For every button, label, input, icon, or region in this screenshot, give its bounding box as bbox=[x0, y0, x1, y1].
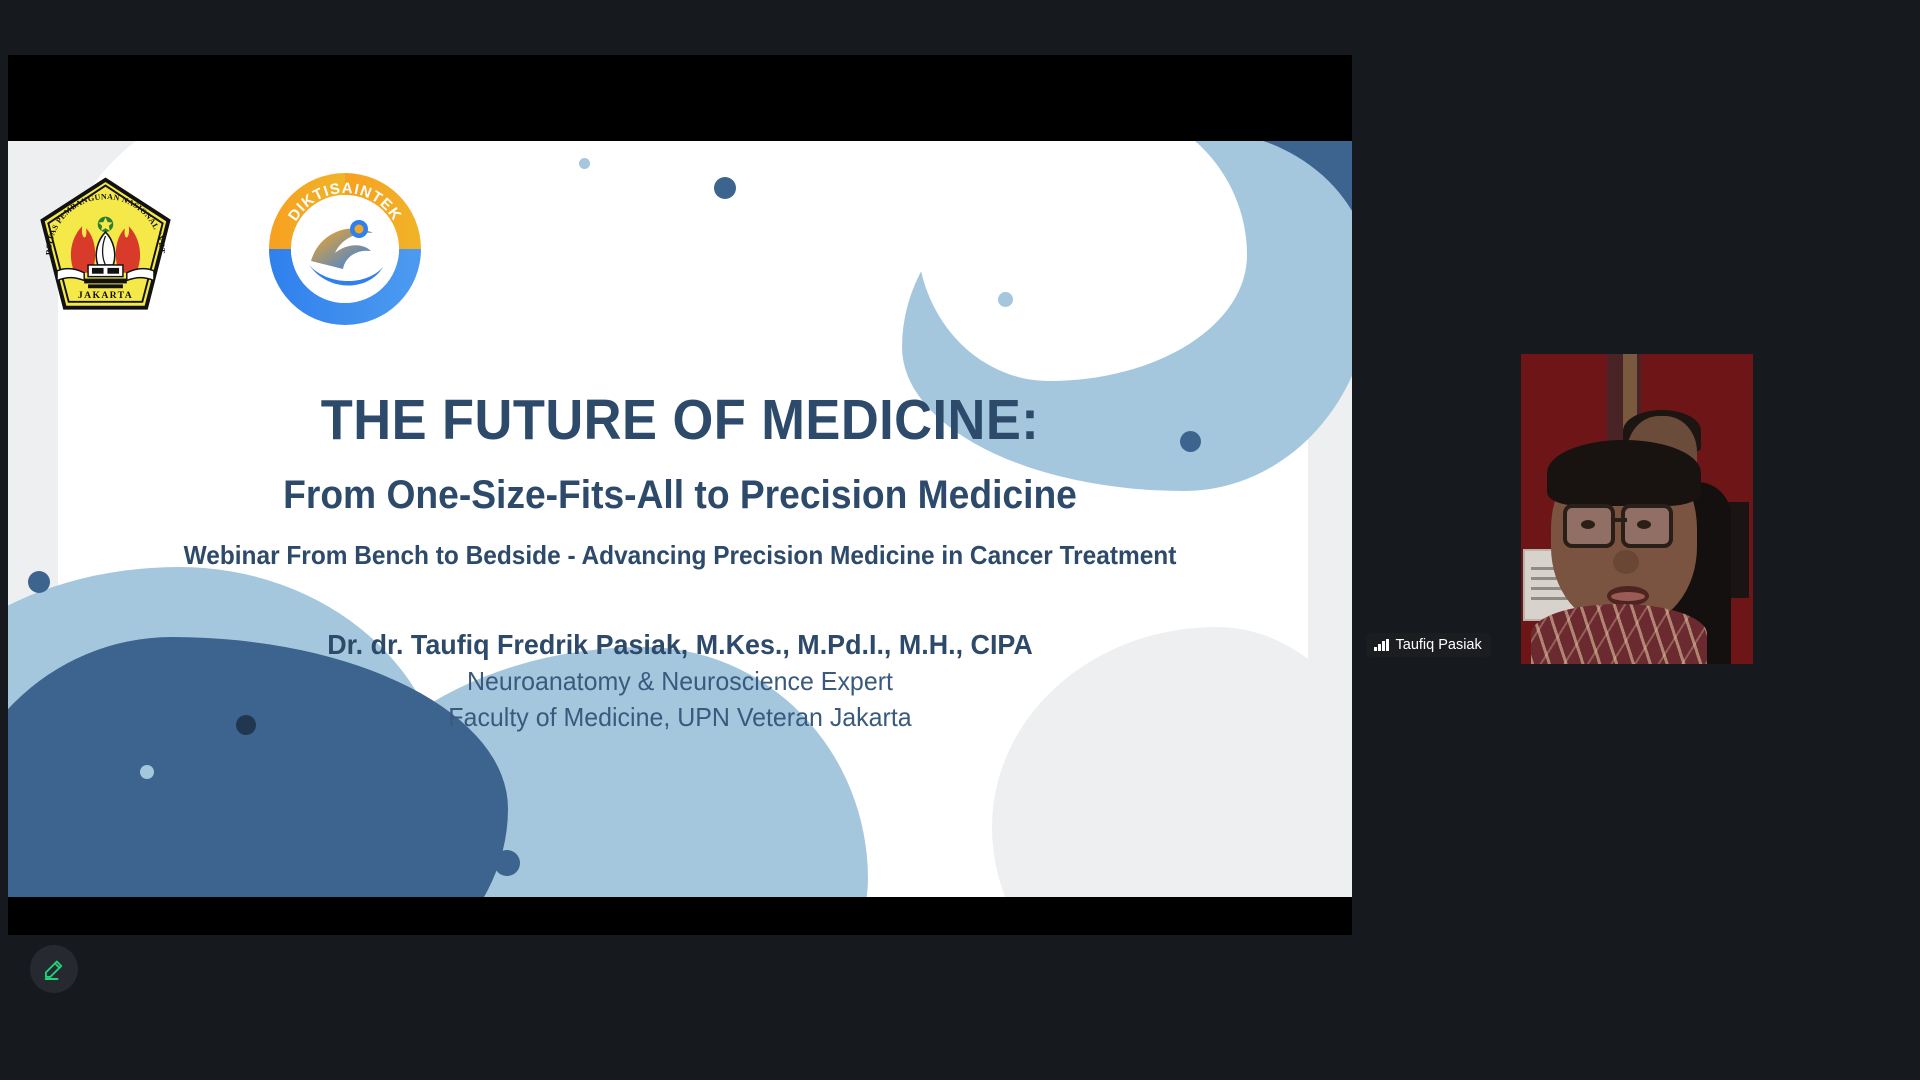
meeting-screen: UNIVERSITAS PEMBANGUNAN NASIONAL "VETERA… bbox=[0, 0, 1920, 1080]
decor-dot bbox=[494, 850, 520, 876]
participant-name-label: Taufiq Pasiak bbox=[1396, 637, 1482, 653]
shared-screen-region[interactable]: UNIVERSITAS PEMBANGUNAN NASIONAL "VETERA… bbox=[8, 55, 1352, 935]
decor-dot bbox=[714, 177, 736, 199]
participant-name-badge: Taufiq Pasiak bbox=[1366, 633, 1491, 657]
left-eye bbox=[1581, 520, 1595, 529]
decor-dot bbox=[140, 765, 154, 779]
right-eye bbox=[1637, 520, 1651, 529]
presentation-slide: UNIVERSITAS PEMBANGUNAN NASIONAL "VETERA… bbox=[8, 141, 1352, 897]
pencil-icon bbox=[41, 956, 67, 982]
eyeglasses-bridge bbox=[1613, 518, 1627, 522]
speaker-affiliation: Faculty of Medicine, UPN Veteran Jakarta bbox=[35, 702, 1325, 733]
speaker-hair bbox=[1547, 440, 1701, 506]
diktisaintek-berdampak-logo: DIKTISAINTEK BERDAMPAK bbox=[265, 169, 425, 329]
speaker-name: Dr. dr. Taufiq Fredrik Pasiak, M.Kes., M… bbox=[35, 629, 1325, 661]
nose bbox=[1613, 550, 1639, 574]
slide-text-block: THE FUTURE OF MEDICINE: From One-Size-Fi… bbox=[8, 391, 1352, 733]
participant-video-tile[interactable] bbox=[1521, 354, 1753, 664]
slide-logos: UNIVERSITAS PEMBANGUNAN NASIONAL "VETERA… bbox=[28, 169, 425, 329]
decor-dot bbox=[579, 158, 590, 169]
lower-lip bbox=[1611, 592, 1645, 601]
signal-bars-icon bbox=[1374, 639, 1389, 651]
decor-dot bbox=[633, 867, 648, 882]
annotate-button[interactable] bbox=[30, 945, 78, 993]
decor-dot bbox=[998, 292, 1013, 307]
slide-event-line: Webinar From Bench to Bedside - Advancin… bbox=[48, 540, 1311, 571]
speaker-role: Neuroanatomy & Neuroscience Expert bbox=[35, 666, 1325, 697]
upn-veteran-jakarta-logo: UNIVERSITAS PEMBANGUNAN NASIONAL "VETERA… bbox=[28, 172, 183, 327]
svg-text:JAKARTA: JAKARTA bbox=[78, 289, 133, 300]
slide-title: THE FUTURE OF MEDICINE: bbox=[62, 391, 1298, 451]
speaker-block: Dr. dr. Taufiq Fredrik Pasiak, M.Kes., M… bbox=[8, 629, 1352, 733]
batik-shirt bbox=[1531, 604, 1707, 664]
slide-subtitle: From One-Size-Fits-All to Precision Medi… bbox=[55, 473, 1305, 518]
